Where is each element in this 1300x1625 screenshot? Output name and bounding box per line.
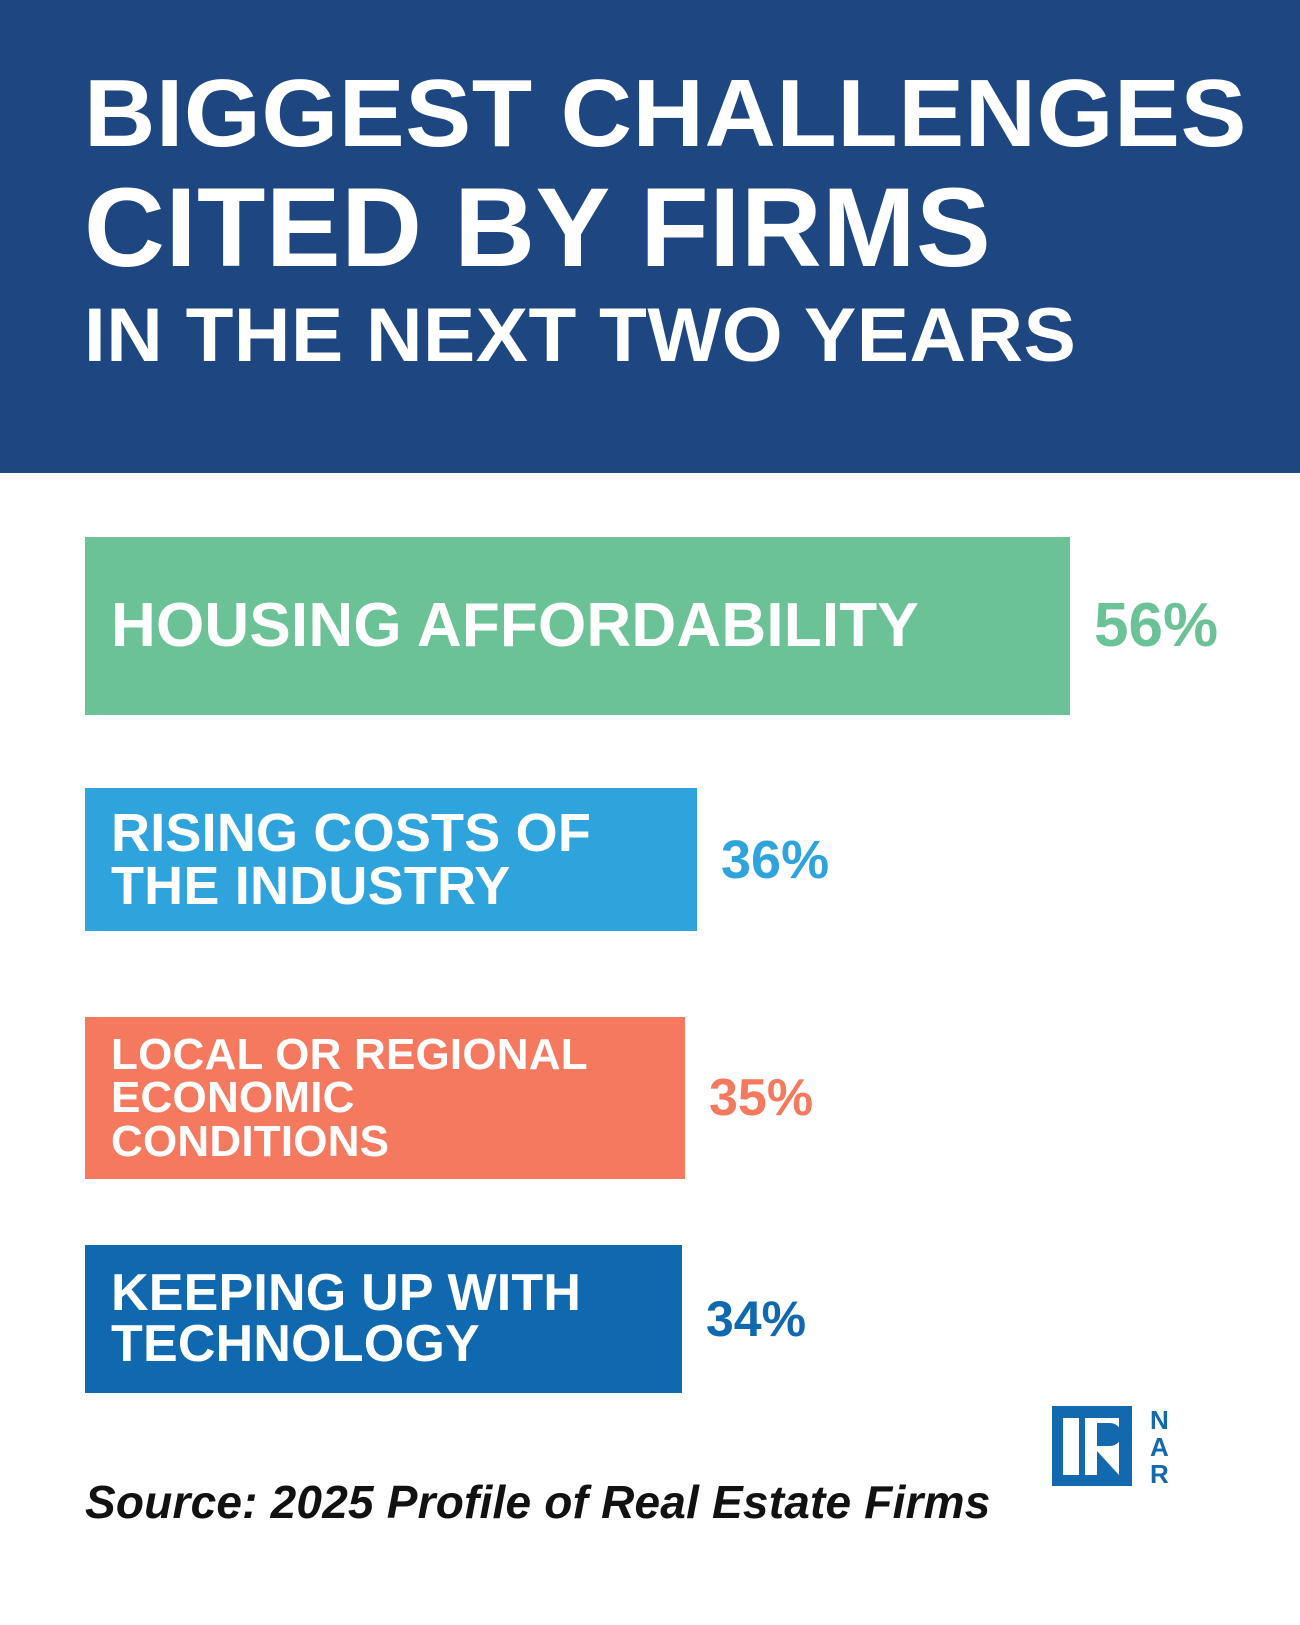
bar-row: RISING COSTS OF THE INDUSTRY 36%: [85, 788, 829, 931]
bar-row: KEEPING UP WITH TECHNOLOGY 34%: [85, 1245, 806, 1393]
source-attribution: Source: 2025 Profile of Real Estate Firm…: [85, 1475, 991, 1529]
logo-letter-r: R: [1150, 1462, 1169, 1486]
nar-logo: N A R: [1052, 1406, 1169, 1486]
realtor-r-glyph: [1052, 1406, 1132, 1486]
bar-label: RISING COSTS OF THE INDUSTRY: [85, 807, 605, 913]
bar-label: KEEPING UP WITH TECHNOLOGY: [85, 1268, 595, 1370]
bar-value: 36%: [721, 833, 829, 887]
bar-housing-affordability: HOUSING AFFORDABILITY: [85, 537, 1070, 715]
bar-keeping-up-technology: KEEPING UP WITH TECHNOLOGY: [85, 1245, 682, 1393]
bar-local-regional-economic: LOCAL OR REGIONAL ECONOMIC CONDITIONS: [85, 1017, 685, 1179]
page-title: BIGGEST CHALLENGES CITED BY FIRMS IN THE…: [84, 62, 1216, 378]
header-banner: BIGGEST CHALLENGES CITED BY FIRMS IN THE…: [0, 0, 1300, 473]
nar-wordmark: N A R: [1150, 1406, 1169, 1486]
logo-letter-n: N: [1150, 1408, 1169, 1432]
bar-row: LOCAL OR REGIONAL ECONOMIC CONDITIONS 35…: [85, 1017, 813, 1179]
bar-chart: HOUSING AFFORDABILITY 56% RISING COSTS O…: [0, 473, 1300, 1373]
title-line-1: BIGGEST CHALLENGES: [84, 62, 1250, 166]
logo-letter-a: A: [1150, 1435, 1169, 1459]
bar-value: 34%: [706, 1294, 806, 1344]
realtor-r-icon: [1052, 1406, 1132, 1486]
footer: Source: 2025 Profile of Real Estate Firm…: [0, 1400, 1300, 1625]
bar-value: 56%: [1094, 595, 1218, 657]
bar-label: HOUSING AFFORDABILITY: [85, 596, 933, 657]
infographic-root: BIGGEST CHALLENGES CITED BY FIRMS IN THE…: [0, 0, 1300, 1625]
bar-row: HOUSING AFFORDABILITY 56%: [85, 537, 1218, 715]
bar-value: 35%: [709, 1072, 813, 1124]
bar-rising-costs: RISING COSTS OF THE INDUSTRY: [85, 788, 697, 931]
bar-label: LOCAL OR REGIONAL ECONOMIC CONDITIONS: [85, 1033, 602, 1162]
title-line-2: CITED BY FIRMS: [84, 168, 1216, 288]
title-line-3: IN THE NEXT TWO YEARS: [84, 294, 1250, 378]
